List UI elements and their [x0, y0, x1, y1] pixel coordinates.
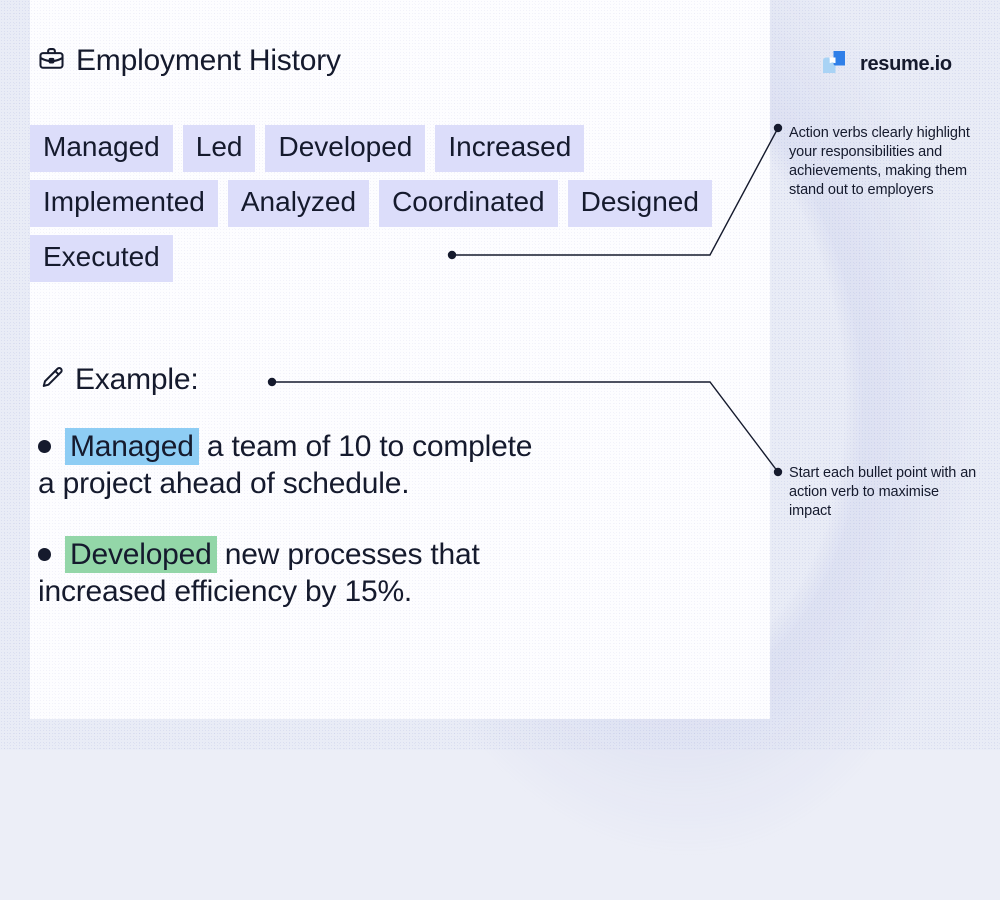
bullet-highlight-verb: Managed: [65, 428, 199, 465]
verb-chip[interactable]: Executed: [30, 235, 173, 282]
list-item: Managed a team of 10 to complete a proje…: [38, 428, 728, 502]
briefcase-icon: [38, 45, 65, 77]
verb-chip[interactable]: Analyzed: [228, 180, 369, 227]
list-item: Developed new processes that increased e…: [38, 536, 728, 610]
resumeio-logo-icon: [820, 48, 848, 81]
verb-chip[interactable]: Led: [183, 125, 256, 172]
verb-chip[interactable]: Developed: [265, 125, 425, 172]
bullet-highlight-verb: Developed: [65, 536, 217, 573]
verb-chip[interactable]: Managed: [30, 125, 173, 172]
bullet-second-line: increased efficiency by 15%.: [38, 573, 728, 610]
bullet-first-line: Developed new processes that: [38, 536, 728, 573]
verb-chip[interactable]: Designed: [568, 180, 712, 227]
verb-chip[interactable]: Implemented: [30, 180, 218, 227]
annotation-note-bullets: Start each bullet point with an action v…: [789, 464, 985, 521]
brand-wordmark: resume.io: [860, 53, 952, 76]
bullet-dot-icon: [38, 440, 51, 453]
pencil-icon: [40, 365, 65, 395]
example-bullet-list: Managed a team of 10 to complete a proje…: [38, 428, 728, 610]
bullet-rest-text: new processes that: [217, 538, 480, 571]
action-verb-chip-list: Managed Led Developed Increased Implemen…: [30, 125, 750, 282]
brand-logo[interactable]: resume.io: [820, 48, 952, 81]
bullet-dot-icon: [38, 548, 51, 561]
annotation-note-verbs: Action verbs clearly highlight your resp…: [789, 124, 985, 200]
example-heading: Example:: [40, 363, 198, 397]
example-label: Example:: [75, 363, 198, 397]
verb-chip[interactable]: Coordinated: [379, 180, 558, 227]
content-card: [30, 0, 770, 719]
page-title: Employment History: [38, 44, 341, 78]
verb-chip[interactable]: Increased: [435, 125, 584, 172]
page-title-text: Employment History: [76, 44, 341, 78]
bullet-second-line: a project ahead of schedule.: [38, 465, 728, 502]
bullet-first-line: Managed a team of 10 to complete: [38, 428, 728, 465]
bullet-rest-text: a team of 10 to complete: [199, 430, 533, 463]
